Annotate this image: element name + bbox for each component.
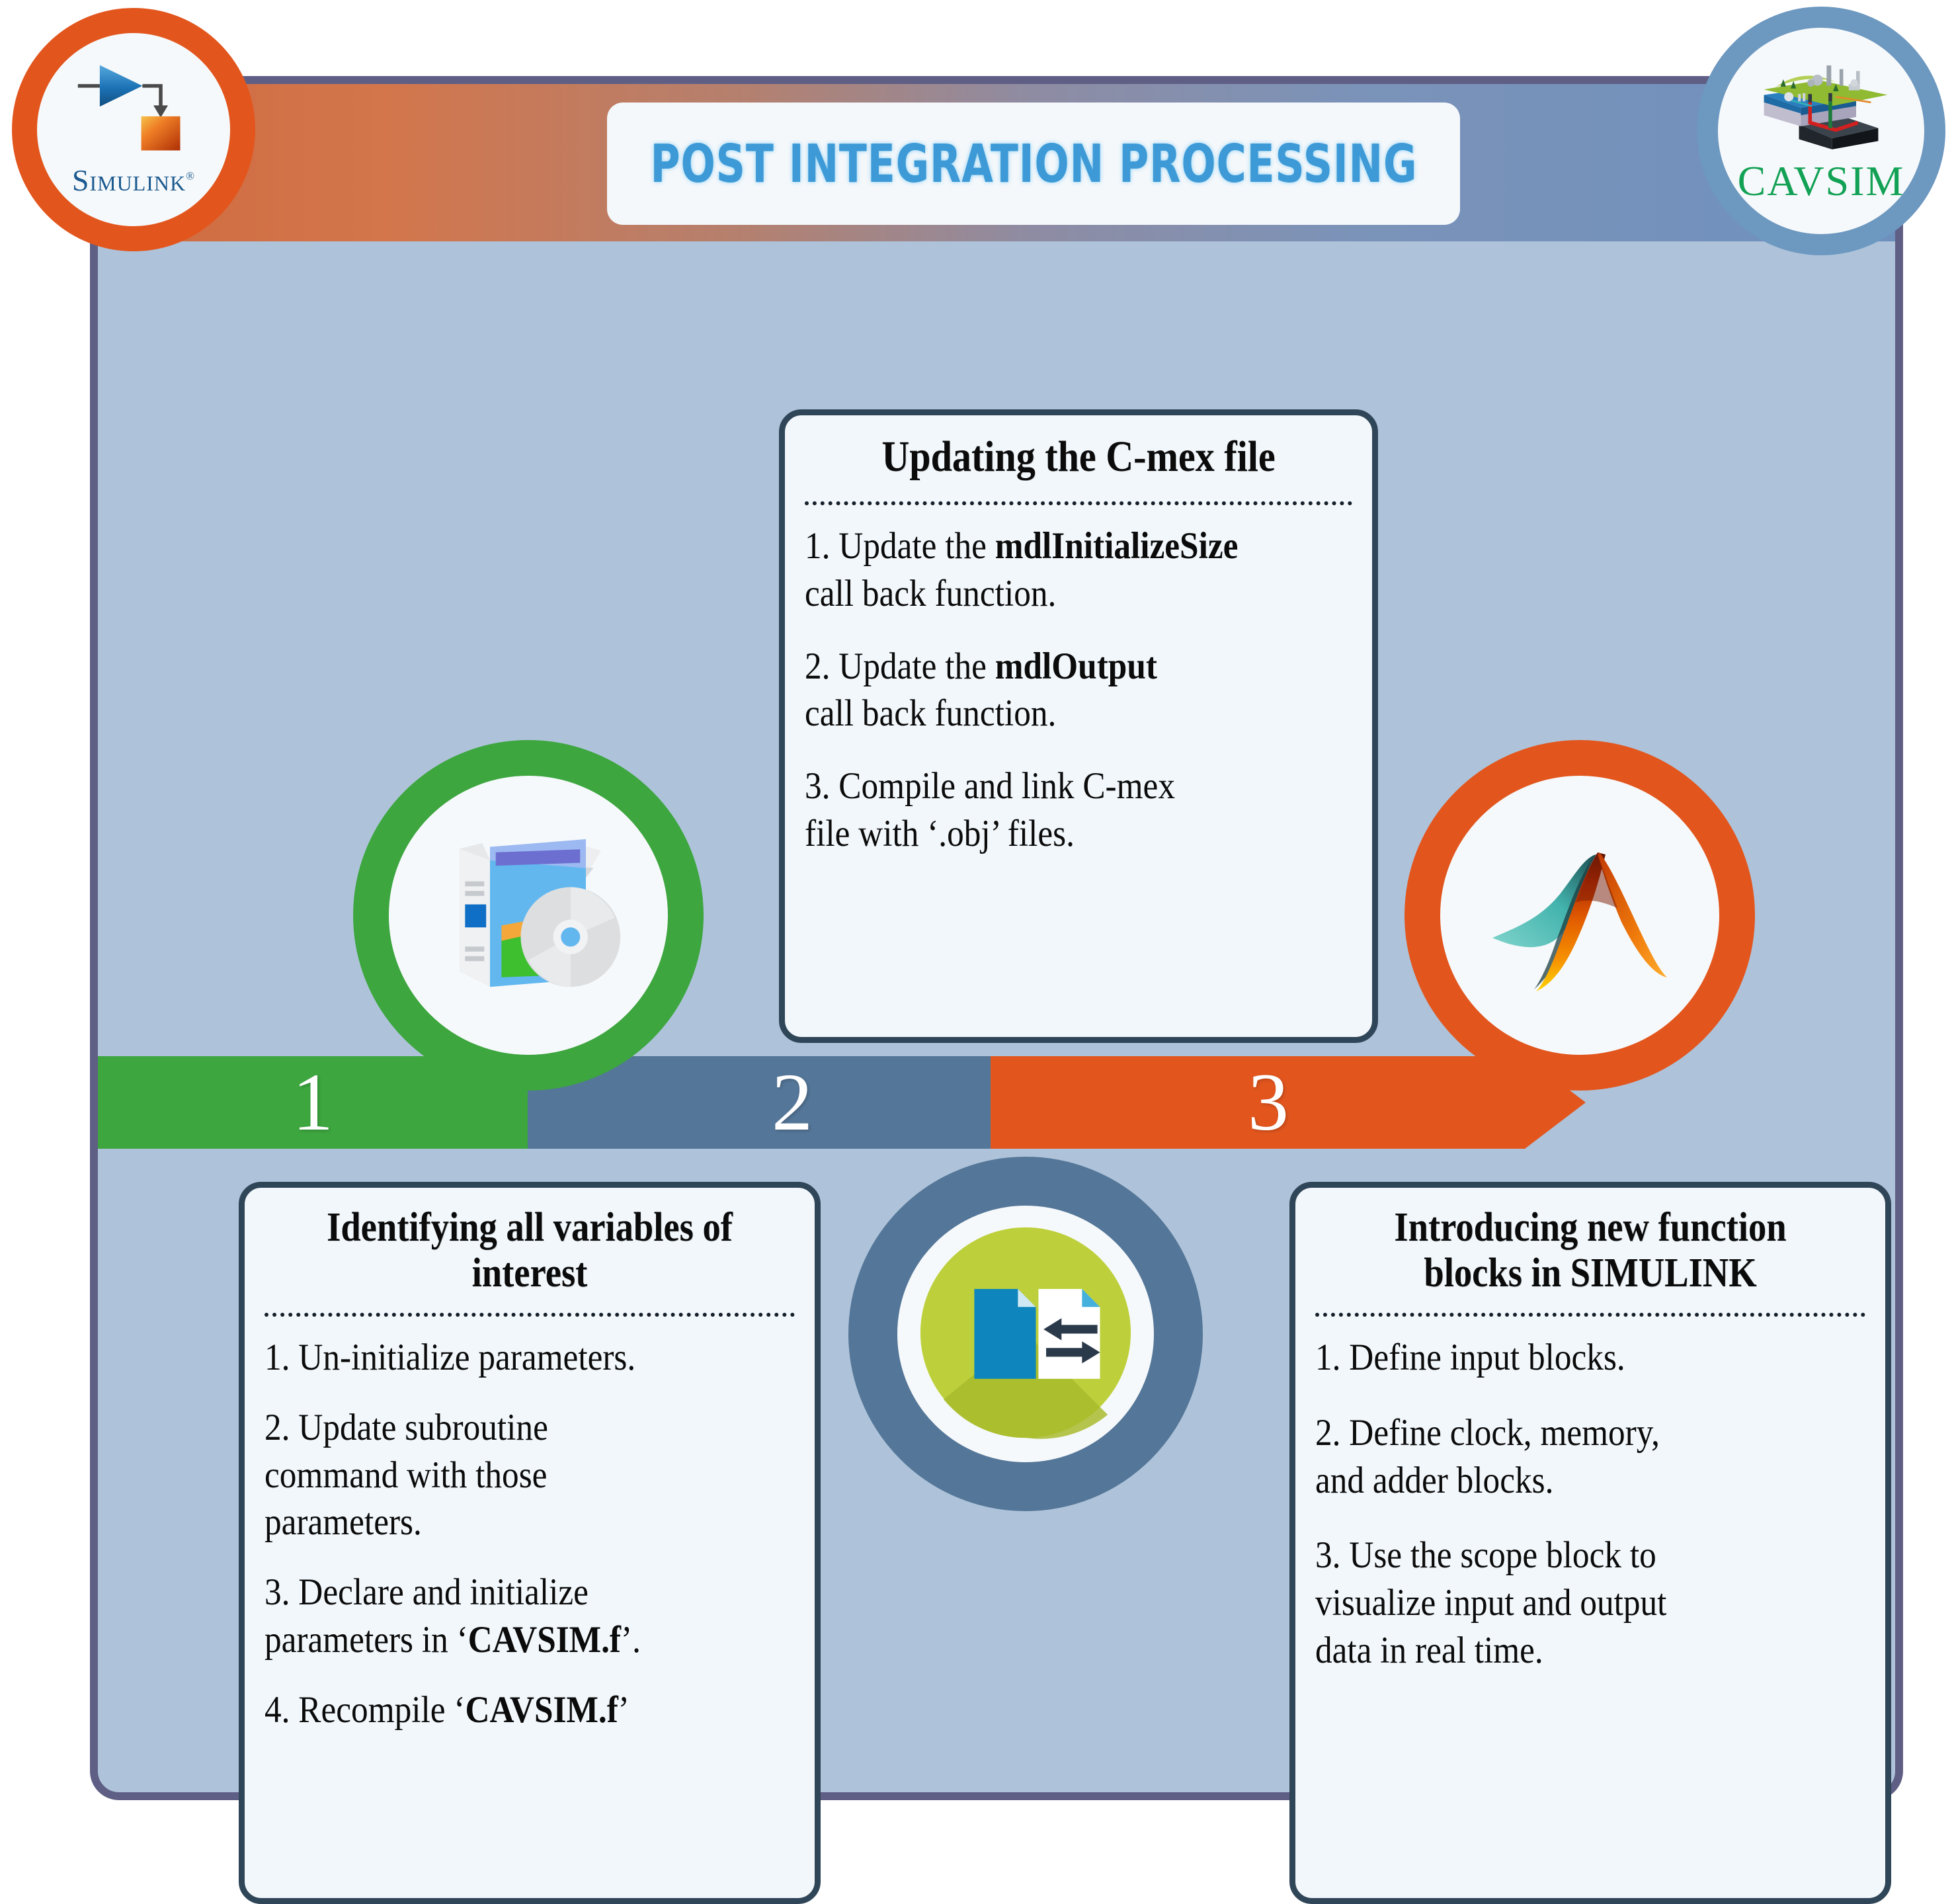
list-item: 1. Update the mdlInitializeSize call bac…	[805, 522, 1297, 618]
main-panel: POST INTEGRATION PROCESSING 1 2 3	[90, 76, 1903, 1800]
card-divider	[805, 501, 1352, 505]
card-title: Identifying all variables of interest	[296, 1205, 763, 1297]
card-identifying-variables: Identifying all variables of interest 1.…	[239, 1182, 821, 1904]
cavsim-logo: CAVSIM	[1697, 7, 1945, 255]
list-item: 3. Declare and initialize parameters in …	[265, 1569, 742, 1664]
list-item: 3. Compile and link C-mex file with ‘.ob…	[805, 763, 1297, 858]
card-title: Updating the C-mex file	[838, 433, 1320, 481]
step-arrow-3[interactable]: 3	[991, 1056, 1586, 1149]
file-exchange-icon	[897, 1204, 1154, 1464]
list-item: 2. Update subroutine command with those …	[265, 1404, 742, 1546]
step-number-1: 1	[292, 1061, 333, 1143]
list-item: 1. Un-initialize parameters.	[265, 1334, 742, 1382]
header-banner: POST INTEGRATION PROCESSING	[98, 84, 1895, 241]
step-number-2: 2	[772, 1061, 813, 1143]
simulink-logo: Simulink®	[12, 8, 255, 251]
reservoir-diagram-icon	[1745, 56, 1897, 155]
card-divider	[265, 1313, 795, 1317]
registered-mark: ®	[186, 170, 195, 183]
list-item: 1. Define input blocks.	[1315, 1334, 1811, 1382]
list-item: 2. Update the mdlOutput call back functi…	[805, 643, 1297, 738]
cavsim-wordmark: CAVSIM	[1738, 157, 1905, 206]
card-divider	[1315, 1313, 1865, 1317]
list-item: 3. Use the scope block to visualize inpu…	[1315, 1532, 1811, 1674]
card-title: Introducing new function blocks in SIMUL…	[1348, 1205, 1832, 1297]
title-plate: POST INTEGRATION PROCESSING	[607, 103, 1460, 225]
simulink-wordmark: Simulink®	[72, 163, 195, 198]
simulink-block-diagram-icon	[73, 62, 195, 157]
step-2-icon-circle[interactable]	[848, 1157, 1203, 1511]
step-1-icon-circle[interactable]	[353, 740, 704, 1091]
card-new-function-blocks: Introducing new function blocks in SIMUL…	[1289, 1182, 1891, 1904]
step-3-icon-circle[interactable]	[1404, 740, 1755, 1091]
card-updating-cmex-file: Updating the C-mex file 1. Update the md…	[779, 409, 1378, 1043]
list-item: 4. Recompile ‘CAVSIM.f’	[265, 1686, 742, 1734]
page-title: POST INTEGRATION PROCESSING	[650, 134, 1417, 194]
step-number-3: 3	[1248, 1061, 1289, 1143]
list-item: 2. Define clock, memory, and adder block…	[1315, 1409, 1811, 1505]
matlab-membrane-icon	[1481, 815, 1679, 1016]
software-package-cd-icon	[432, 818, 624, 1013]
